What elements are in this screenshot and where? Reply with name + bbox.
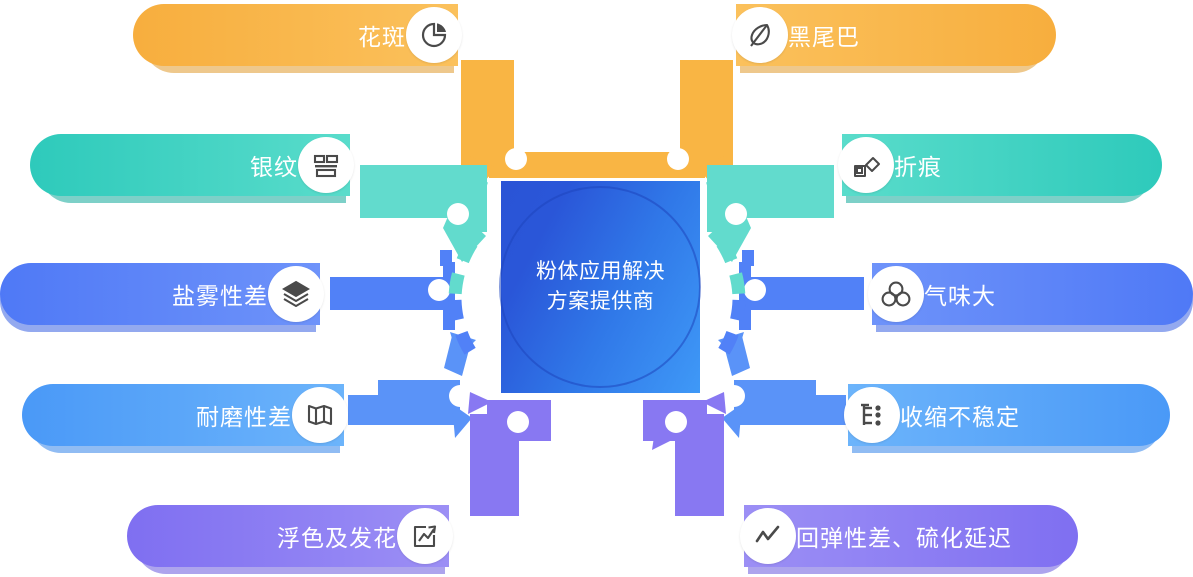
hub-label-line2: 方案提供商 <box>547 287 655 317</box>
node-bottom-right-label: 回弹性差、硫化延迟 <box>796 519 1012 553</box>
node-bottom-left-label: 浮色及发花 <box>277 519 397 553</box>
open-book-icon <box>292 387 348 443</box>
node-upper-left[interactable]: 银纹 <box>30 134 350 196</box>
node-lower-left-label: 耐磨性差 <box>196 398 292 432</box>
pie-chart-icon <box>406 7 462 63</box>
sitemap-icon <box>844 387 900 443</box>
connector-top-right <box>597 60 733 188</box>
connector-bottom-left <box>468 392 551 516</box>
layers-icon <box>268 266 324 322</box>
connector-lower-right <box>718 332 846 438</box>
recycle-icon <box>868 266 924 322</box>
node-mid-right-label: 气味大 <box>924 277 996 311</box>
leaf-icon <box>732 7 788 63</box>
connector-top-left <box>461 60 597 188</box>
node-lower-right[interactable]: 收缩不稳定 <box>848 384 1170 446</box>
node-upper-right-label: 折痕 <box>894 148 942 182</box>
connector-mid-right <box>739 250 864 330</box>
connector-lower-left <box>348 332 476 438</box>
diagram-canvas: 粉体应用解决方案提供商 花斑 银纹 <box>0 0 1193 577</box>
hub-node: 粉体应用解决方案提供商 <box>501 181 700 393</box>
node-mid-left[interactable]: 盐雾性差 <box>0 263 320 325</box>
node-upper-right[interactable]: 折痕 <box>842 134 1162 196</box>
node-top-right[interactable]: 黑尾巴 <box>736 4 1056 66</box>
node-lower-left[interactable]: 耐磨性差 <box>22 384 344 446</box>
node-mid-right[interactable]: 气味大 <box>872 263 1193 325</box>
node-lower-right-label: 收缩不稳定 <box>900 398 1020 432</box>
node-upper-left-label: 银纹 <box>250 148 298 182</box>
connector-mid-left <box>330 250 455 330</box>
node-top-left-label: 花斑 <box>358 18 406 52</box>
line-chart-icon <box>740 508 796 564</box>
connector-upper-left <box>360 165 488 262</box>
puzzle-icon <box>838 137 894 193</box>
brick-wall-icon <box>298 137 354 193</box>
trend-up-box-icon <box>397 508 453 564</box>
node-top-left[interactable]: 花斑 <box>133 4 458 66</box>
connector-bottom-right <box>643 392 726 516</box>
hub-label-line1: 粉体应用解决 <box>536 257 665 287</box>
node-bottom-left[interactable]: 浮色及发花 <box>127 505 449 567</box>
hub-label: 粉体应用解决方案提供商 <box>501 181 700 393</box>
connector-upper-right <box>706 165 834 262</box>
node-mid-left-label: 盐雾性差 <box>172 277 268 311</box>
node-bottom-right[interactable]: 回弹性差、硫化延迟 <box>744 505 1078 567</box>
node-top-right-label: 黑尾巴 <box>788 18 860 52</box>
